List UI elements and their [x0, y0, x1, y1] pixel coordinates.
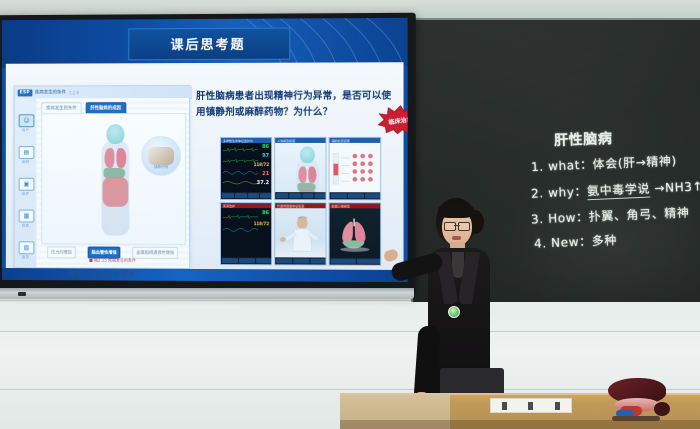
- panel-footer-buttons[interactable]: [330, 258, 382, 265]
- smartboard-screen[interactable]: 课后思考题 肝性脑病患者出现精神行为异常，是否可以使 用镇静剂或麻醉药物？为什么…: [2, 18, 408, 282]
- smartboard-display[interactable]: 课后思考题 肝性脑病患者出现精神行为异常，是否可以使 用镇静剂或麻醉药物？为什么…: [0, 13, 416, 294]
- pleth-waveform-icon: [223, 167, 258, 176]
- footer-button[interactable]: [256, 258, 272, 263]
- media-grid: 多参数生命体征监护仪: [220, 137, 381, 266]
- footer-button[interactable]: [331, 259, 356, 264]
- vital-nibp-value: 118/72: [254, 163, 269, 167]
- note-underlined-term: 氨中毒学说: [587, 182, 651, 201]
- sidebar-item-user[interactable]: ☺ 用户: [19, 114, 33, 133]
- ecg-waveform-icon: [223, 212, 258, 221]
- figure-intestine: [103, 177, 129, 207]
- hair-fringe: [438, 202, 474, 218]
- note-num: 2.: [531, 186, 544, 201]
- anatomy-view: [275, 143, 325, 194]
- wall-trim-line: [0, 389, 700, 390]
- note-sep: ：: [580, 157, 593, 172]
- lapel-badge: [448, 306, 460, 318]
- figure-legs: [107, 208, 123, 236]
- figure-note-text: 图2.15 疾病发生的条件: [94, 258, 136, 263]
- report-icon: ▧: [19, 241, 35, 254]
- figure-head: [106, 124, 124, 144]
- mouth: [452, 236, 461, 240]
- patient-asterixis-panel[interactable]: 扑翼样震颤体征检查: [274, 202, 326, 265]
- stamp-label: 临床治疗: [375, 101, 407, 137]
- footer-button[interactable]: [276, 258, 292, 263]
- classroom-scene: 肝性脑病 1. what：体会(肝→精神) 2. why：氨中毒学说 →NH3↑…: [0, 0, 700, 429]
- vital-nibp-value: 118/72: [254, 222, 269, 226]
- slide-question: 肝性脑病患者出现精神行为异常，是否可以使 用镇静剂或麻醉药物？为什么？: [196, 88, 404, 121]
- panel-footer-buttons[interactable]: [275, 192, 326, 199]
- sidebar-item-exam[interactable]: ▦ 检查: [19, 210, 33, 229]
- note-text: 扑翼、角弓、精神: [588, 206, 689, 224]
- ecg-waveform-icon: [223, 145, 258, 154]
- note-num: 1.: [531, 160, 544, 175]
- panel-footer-buttons[interactable]: [221, 257, 272, 264]
- simulation-app-panel[interactable]: ESP 疾病发生的条件 1.2.6 ☺ 用户 ▤ 病例: [14, 85, 190, 269]
- vital-hr-value: 86: [262, 211, 269, 216]
- note-key: New: [551, 235, 580, 250]
- figure-note-marker: ■: [89, 257, 93, 262]
- vital-hr-value: 86: [262, 145, 269, 150]
- figure-head: [300, 147, 315, 163]
- footer-button[interactable]: [276, 193, 288, 198]
- app-header-title: 疾病发生的条件: [35, 89, 66, 95]
- figure-lung-right: [116, 148, 126, 168]
- diagnostics-panel[interactable]: 辅助检查结果: [329, 137, 382, 200]
- glasses-icon: [444, 222, 470, 229]
- desk-card[interactable]: [490, 398, 572, 413]
- sidebar-item-label: 用户: [19, 128, 33, 133]
- card-mark: [555, 402, 560, 410]
- patient-figure-icon: [275, 208, 325, 259]
- panel-footer-buttons[interactable]: [221, 192, 272, 199]
- slide-caption: 病情分析和诊疗模拟: [16, 268, 190, 279]
- vitals-monitor-panel[interactable]: 多参数生命体征监护仪: [220, 137, 272, 200]
- card-mark: [528, 402, 533, 410]
- figure-lung-left: [298, 166, 306, 182]
- organ-3d-view: [330, 208, 381, 260]
- footer-button[interactable]: [239, 258, 255, 263]
- book-icon: ▤: [19, 146, 35, 159]
- footer-button[interactable]: [222, 193, 234, 198]
- note-sep: ：: [576, 210, 589, 225]
- user-icon: ☺: [19, 114, 35, 127]
- note-text: 体会(肝→精神): [592, 154, 677, 172]
- model-base: [612, 416, 660, 421]
- footer-button[interactable]: [331, 193, 347, 198]
- footer-button[interactable]: [248, 193, 260, 198]
- footer-button[interactable]: [365, 193, 381, 198]
- sidebar-item-report[interactable]: ▧ 报告: [19, 241, 33, 260]
- clinical-treatment-stamp: 临床治疗: [377, 105, 407, 135]
- vital-spo2-value: 97: [262, 154, 269, 159]
- panel-footer-buttons[interactable]: [275, 257, 326, 264]
- footer-button[interactable]: [302, 193, 314, 198]
- figure-lung-right: [308, 166, 316, 182]
- blackboard-note-4: 4. New：多种: [534, 231, 618, 252]
- pill-cluster-icon: [148, 147, 174, 165]
- app-sidebar: ☺ 用户 ▤ 病例 ▣ 监护 ▦ 检查: [15, 98, 38, 267]
- question-line-1: 肝性脑病患者出现精神行为异常，是否可以使: [196, 88, 404, 105]
- organ-model-panel[interactable]: 脏器三维模型: [329, 202, 382, 266]
- smartboard-sensor-icon: [18, 292, 26, 296]
- grid-icon: ▦: [19, 210, 35, 223]
- slide-title: 课后思考题: [128, 28, 288, 59]
- panel-footer-buttons[interactable]: [330, 192, 382, 199]
- sidebar-item-label: 病例: [19, 160, 33, 165]
- note-key: what: [548, 158, 580, 173]
- footer-button[interactable]: [289, 193, 301, 198]
- footer-button[interactable]: [310, 258, 326, 263]
- sidebar-item-case[interactable]: ▤ 病例: [19, 146, 33, 165]
- note-num: 4.: [534, 236, 547, 251]
- note-key: How: [548, 210, 577, 225]
- footer-button[interactable]: [348, 193, 364, 198]
- app-main-area: 疾病发生的条件 肝性脑病的成因: [36, 98, 189, 268]
- question-line-2: 用镇静剂或麻醉药物？为什么？: [196, 105, 404, 121]
- patient-video-view: [275, 208, 325, 259]
- note-sep: ：: [574, 184, 587, 199]
- footer-button[interactable]: [222, 258, 238, 263]
- sidebar-item-label: 报告: [19, 255, 33, 260]
- sidebar-item-label: 检查: [19, 223, 33, 228]
- blackboard-title: 肝性脑病: [554, 128, 613, 150]
- footer-button[interactable]: [315, 193, 327, 198]
- sidebar-item-label: 监护: [19, 192, 33, 197]
- resp-waveform-icon: [223, 177, 258, 186]
- vital-rr-value: 21: [262, 172, 269, 177]
- lab-results-icon: [330, 143, 381, 194]
- model-spleen: [654, 402, 670, 416]
- footer-button[interactable]: [356, 259, 381, 264]
- monitor-icon: ▣: [19, 178, 35, 191]
- sidebar-item-monitor[interactable]: ▣ 监护: [19, 178, 33, 197]
- note-text: →NH3↑: [650, 179, 700, 195]
- lungs-liver-model-icon: [330, 208, 381, 260]
- monitor-screen: 86 118/72: [221, 208, 271, 259]
- drug-callout-bubble: 镇静药物: [141, 136, 181, 176]
- bedside-monitor-panel[interactable]: 床旁监护 86 118/72: [220, 202, 272, 265]
- anatomy-stage: 镇静药物: [41, 113, 186, 245]
- smartboard-control-bar[interactable]: [0, 288, 414, 299]
- vital-temp-value: 37.2: [257, 181, 269, 186]
- footer-button[interactable]: [293, 258, 309, 263]
- note-text: 多种: [591, 233, 617, 248]
- human-anatomy-figure: [94, 122, 138, 240]
- footer-button[interactable]: [235, 193, 247, 198]
- anatomy-panel[interactable]: 人体解剖模型: [274, 137, 326, 200]
- presentation-slide: 课后思考题 肝性脑病患者出现精神行为异常，是否可以使 用镇静剂或麻醉药物？为什么…: [2, 18, 408, 282]
- card-mark: [502, 402, 507, 410]
- esp-logo: ESP: [18, 89, 32, 96]
- diagnostics-view: [330, 143, 381, 194]
- figure-lung-left: [104, 148, 114, 168]
- app-header-number: 1.2.6: [69, 90, 79, 95]
- figure-note: ■ 图2.15 疾病发生的条件: [41, 257, 184, 264]
- monitor-screen: 86 97 118/72 21 37.2: [221, 143, 271, 194]
- wall-trim-line: [0, 331, 700, 332]
- note-num: 3.: [531, 212, 544, 227]
- note-key: why: [548, 185, 575, 200]
- bubble-caption: 镇静药物: [142, 165, 180, 170]
- footer-button[interactable]: [260, 193, 272, 198]
- liver-anatomical-model[interactable]: [604, 378, 670, 422]
- note-sep: ：: [579, 234, 592, 249]
